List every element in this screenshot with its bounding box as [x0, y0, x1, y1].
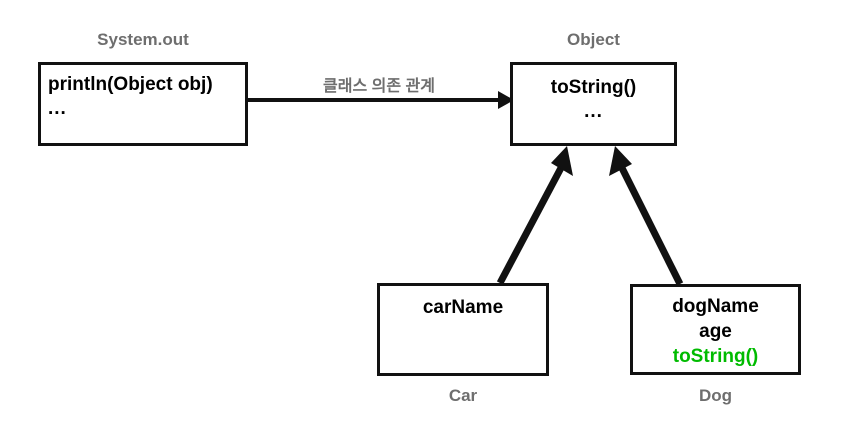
- class-caption-dog: Dog: [630, 386, 801, 406]
- dog-inheritance-arrow: [609, 146, 680, 284]
- class-member: ...: [48, 97, 67, 120]
- class-box-system-out[interactable]: println(Object obj) ...: [38, 62, 248, 146]
- class-member: toString(): [551, 75, 636, 100]
- class-member: age: [699, 319, 732, 344]
- class-member: println(Object obj): [48, 72, 213, 97]
- class-caption-car: Car: [377, 386, 549, 406]
- class-caption-object: Object: [510, 30, 677, 50]
- class-box-dog[interactable]: dogName age toString(): [630, 284, 801, 375]
- edge-label-dependency: 클래스 의존 관계: [248, 72, 510, 96]
- diagram-canvas: 클래스 의존 관계 System.out println(Object obj)…: [0, 0, 848, 426]
- class-caption-system-out: System.out: [38, 30, 248, 50]
- class-member: carName: [423, 295, 503, 320]
- class-box-car[interactable]: carName: [377, 283, 549, 376]
- class-box-object[interactable]: toString() ...: [510, 62, 677, 146]
- class-member: dogName: [672, 294, 759, 319]
- class-member-highlighted: toString(): [673, 344, 758, 369]
- class-member: ...: [584, 100, 603, 123]
- car-inheritance-arrow: [500, 146, 573, 283]
